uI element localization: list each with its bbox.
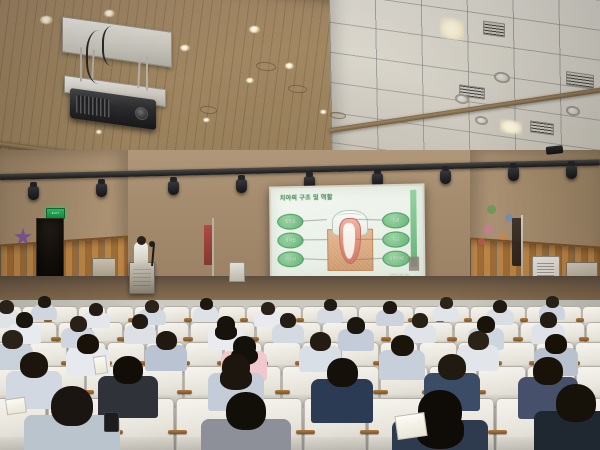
seat-armrest	[168, 430, 187, 434]
attendee-head	[217, 316, 235, 333]
tumbler-cup	[93, 355, 108, 375]
attendee-head	[391, 335, 414, 356]
attendee-head	[70, 316, 87, 332]
attendee-head	[77, 334, 99, 354]
seat-armrest	[579, 337, 589, 341]
attendee-head	[280, 313, 296, 328]
handout-paper	[394, 412, 427, 440]
seat-armrest	[177, 390, 192, 394]
auditorium-photo: EXIT 치아의 구조 및 역할 법랑질상아질치수강치관치근치주인대 구강보건교…	[0, 0, 600, 450]
attendee-head	[468, 331, 489, 350]
smartphone[interactable]	[104, 412, 119, 432]
attendee-head	[438, 354, 466, 380]
handout-paper	[5, 397, 27, 416]
attendee-head	[383, 301, 397, 314]
attendee-head	[440, 297, 453, 309]
attendee-head	[347, 317, 365, 334]
attendee-head	[540, 312, 557, 328]
attendee-foreground-head	[226, 392, 266, 430]
attendee-head	[324, 299, 337, 311]
attendee-head	[261, 302, 275, 315]
attendee-head	[113, 356, 143, 384]
seat-armrest	[488, 430, 507, 434]
attendee-head	[2, 330, 23, 349]
attendee-head	[0, 300, 14, 314]
seat-armrest	[373, 390, 388, 394]
seat-armrest	[513, 337, 523, 341]
attendee-head	[38, 296, 51, 308]
seat-armrest	[275, 390, 290, 394]
attendee-foreground-head	[556, 384, 596, 422]
attendee-head	[16, 312, 33, 328]
attendee-foreground-head	[51, 386, 93, 426]
attendee-head	[533, 357, 563, 385]
seat-armrest	[360, 430, 379, 434]
attendee-head	[20, 352, 48, 378]
seat-armrest	[447, 337, 457, 341]
seat-armrest	[183, 337, 193, 341]
seat-armrest	[296, 430, 315, 434]
attendee-head	[222, 354, 250, 380]
attendee-head	[545, 334, 567, 354]
attendee-head	[156, 331, 177, 350]
attendee-head	[145, 300, 159, 313]
attendee-head	[546, 296, 559, 308]
attendee-head	[132, 314, 148, 329]
attendee-head	[327, 358, 358, 387]
seat-armrest	[381, 337, 391, 341]
seat-armrest	[51, 337, 61, 341]
attendee-head	[412, 313, 428, 328]
attendee-head	[310, 332, 331, 351]
attendee-head	[89, 303, 103, 316]
attendee-head	[493, 300, 507, 313]
attendee-head	[200, 298, 213, 310]
